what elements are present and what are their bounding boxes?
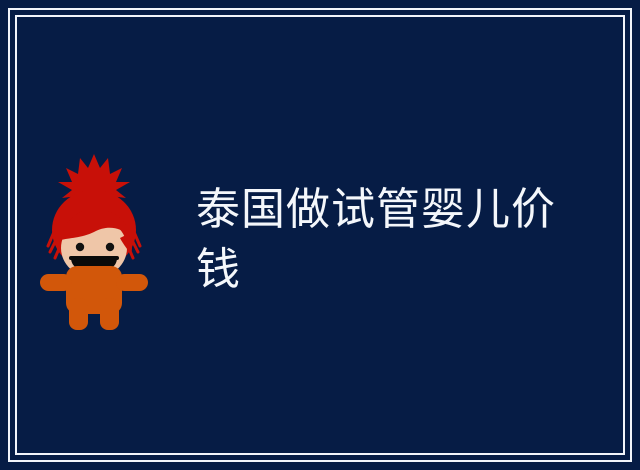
- page-title: 泰国做试管婴儿价钱: [196, 180, 596, 300]
- mascot-illustration: [38, 148, 150, 330]
- poster-canvas: 泰国做试管婴儿价钱: [0, 0, 640, 470]
- body-icon: [40, 266, 148, 330]
